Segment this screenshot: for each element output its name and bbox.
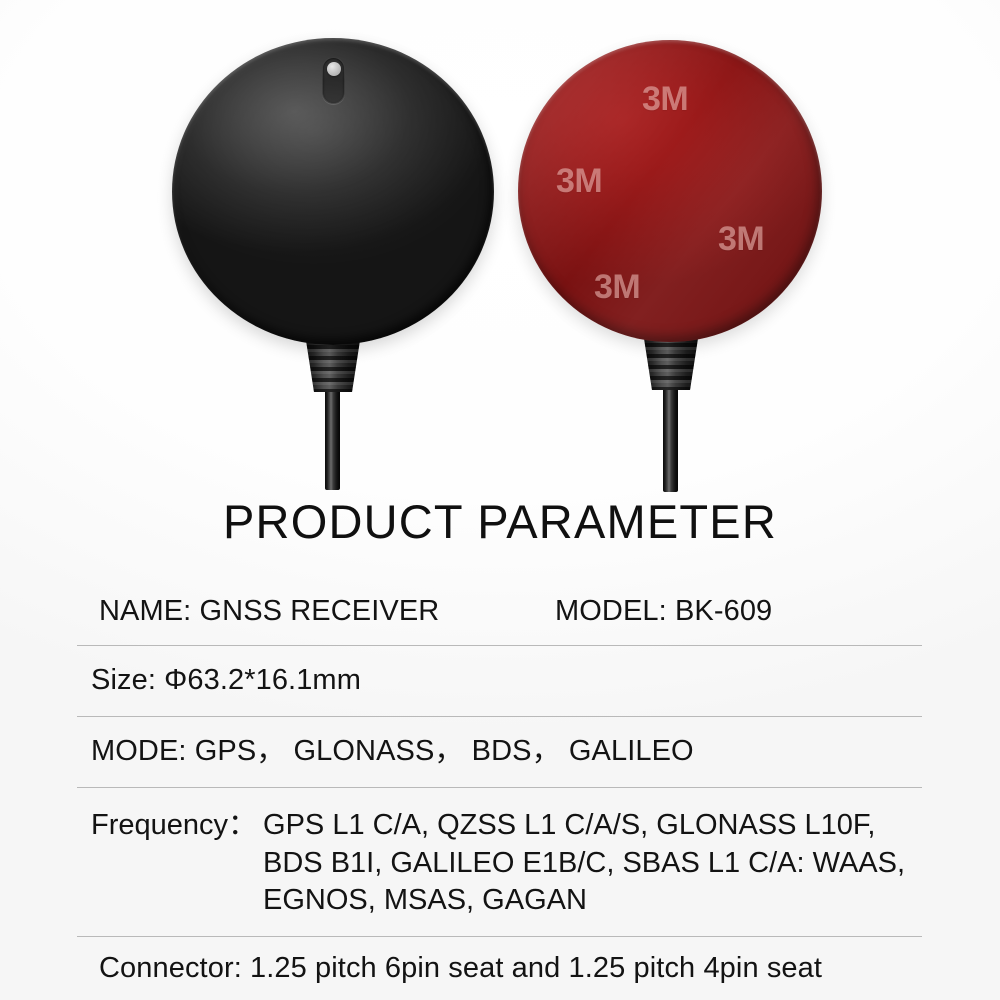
spec-frequency-label: Frequency： [91,807,257,920]
table-row-frequency: Frequency： GPS L1 C/A, QZSS L1 C/A/S, GL… [77,788,922,937]
gnss-receiver-black-puck [172,38,494,452]
red-pad-body: 3M 3M 3M 3M [518,40,822,342]
product-spec-page: 3M 3M 3M 3M PRODUCT PARAMETER NAME: GNSS… [0,0,1000,1000]
spec-size-value: Size: Φ63.2*16.1mm [77,662,361,699]
black-puck-body [172,38,494,345]
table-row-connector: Connector: 1.25 pitch 6pin seat and 1.25… [77,937,922,1000]
3m-watermark: 3M [642,80,688,119]
3m-watermark: 3M [718,220,764,259]
table-row-mode: MODE: GPS， GLONASS， BDS， GALILEO [77,717,922,788]
spec-mode-value: MODE: GPS， GLONASS， BDS， GALILEO [77,733,694,770]
table-row-name: NAME: GNSS RECEIVER MODEL: BK-609 [77,578,922,646]
table-row-size: Size: Φ63.2*16.1mm [77,646,922,717]
spec-table: NAME: GNSS RECEIVER MODEL: BK-609 Size: … [77,578,922,1000]
page-title: PRODUCT PARAMETER [0,498,1000,545]
frequency-line: EGNOS, MSAS, GAGAN [263,882,905,920]
frequency-line: BDS B1I, GALILEO E1B/C, SBAS L1 C/A: WAA… [263,845,905,883]
adhesive-pad-red: 3M 3M 3M 3M [518,40,822,452]
spec-name-value: NAME: GNSS RECEIVER [77,593,439,630]
spec-connector-value: Connector: 1.25 pitch 6pin seat and 1.25… [77,950,822,987]
3m-watermark: 3M [556,162,602,201]
frequency-line: GPS L1 C/A, QZSS L1 C/A/S, GLONASS L10F, [263,807,905,845]
spec-model-value: MODEL: BK-609 [555,593,772,630]
product-photo-area: 3M 3M 3M 3M [0,0,1000,470]
spec-frequency-values: GPS L1 C/A, QZSS L1 C/A/S, GLONASS L10F,… [257,807,905,920]
led-indicator-recess [322,57,345,104]
led-indicator-icon [327,62,341,76]
3m-watermark: 3M [594,268,640,307]
